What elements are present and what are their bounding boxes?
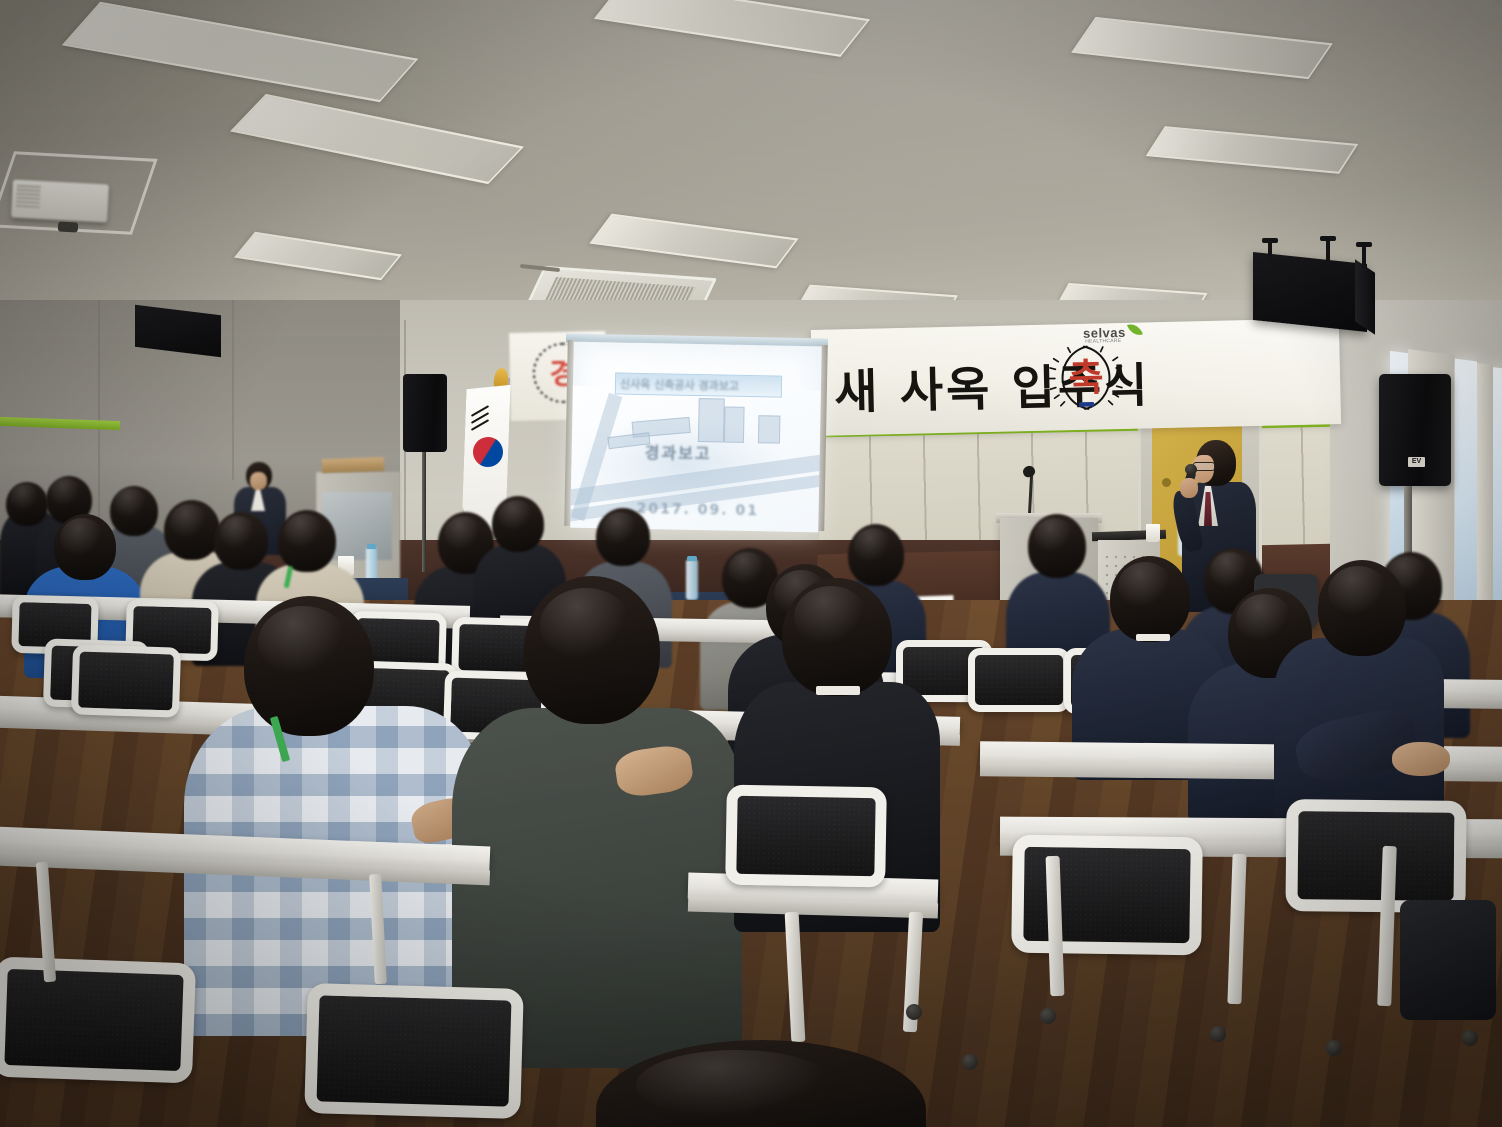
table-caster (1040, 1008, 1056, 1024)
door-knob-icon[interactable] (1162, 478, 1171, 487)
projector-lens-icon (58, 221, 78, 232)
head-highlight (1034, 518, 1074, 554)
chair-mesh (78, 652, 174, 711)
banner-emblem-character: 축 (1068, 355, 1104, 400)
table-caster (962, 1054, 978, 1070)
head-highlight (170, 504, 208, 540)
window-pane (1492, 367, 1502, 629)
table-caster (1326, 1040, 1342, 1056)
ceiling-speaker-face (1355, 259, 1375, 334)
chair-mesh (4, 969, 183, 1071)
bottle-cap (687, 556, 697, 561)
speaker-stand (422, 452, 426, 572)
head-highlight (636, 1050, 836, 1120)
window-mullion (1477, 363, 1493, 627)
paper-cup[interactable] (1146, 524, 1160, 542)
chair-mesh (975, 655, 1063, 705)
head-highlight (60, 518, 104, 558)
cardboard-box (322, 457, 384, 473)
wreath-celebration-emblem-icon: 축 (1047, 339, 1125, 417)
chair-mesh (317, 995, 512, 1106)
projector-vent-icon (16, 185, 41, 208)
projection-screen: 신사옥 신축공사 경과보고 경과보고 2017. 09. 01 (570, 342, 822, 533)
chair[interactable] (304, 983, 524, 1119)
chair-frame (304, 983, 524, 1119)
pa-speaker-right (1379, 374, 1451, 486)
speaker-mount-rod (1268, 240, 1272, 264)
speaker-mount-cap (1320, 236, 1336, 241)
chair-frame (1285, 799, 1466, 913)
head-highlight (284, 514, 324, 550)
head-highlight (1236, 594, 1292, 644)
head-highlight (794, 586, 868, 648)
pa-speaker-left (403, 374, 447, 452)
chair[interactable] (71, 644, 181, 717)
chair-frame (968, 648, 1070, 712)
head-highlight (1210, 552, 1250, 590)
table-caster (1210, 1026, 1226, 1042)
chair[interactable] (1011, 835, 1203, 956)
speaker-mount-rod (1326, 238, 1330, 262)
wall-seam (232, 300, 234, 480)
chair-mesh (1298, 811, 1455, 901)
speaker-mount-cap (1262, 238, 1278, 243)
slide-heading: 경과보고 (644, 439, 711, 464)
slide-title-bar: 신사옥 신축공사 경과보고 (615, 372, 782, 397)
head-highlight (220, 516, 256, 550)
table-caster (1462, 1030, 1478, 1046)
chair-mesh (736, 796, 875, 876)
water-bottle[interactable] (686, 560, 698, 600)
bag (1400, 900, 1496, 1020)
chair[interactable] (725, 785, 887, 888)
chair-frame (725, 785, 887, 888)
microphone-head-icon (1185, 464, 1197, 475)
head-highlight (1328, 566, 1388, 618)
head-highlight (1118, 562, 1172, 610)
ceiling-projector (11, 180, 109, 223)
head-highlight (10, 484, 40, 512)
shirt-collar (816, 686, 860, 695)
chair-frame (71, 644, 181, 717)
slide-building (724, 407, 745, 443)
speaker-mount-cap (1356, 242, 1372, 247)
emblem-ribbon (1079, 402, 1094, 407)
presenter-hand (1180, 478, 1198, 498)
window-pane (1455, 359, 1477, 627)
head-highlight (540, 588, 632, 662)
head-highlight (854, 528, 892, 564)
ceiling-speaker (1253, 252, 1367, 332)
shirt-collar (1136, 634, 1170, 641)
head-highlight (50, 478, 82, 508)
head-highlight (498, 500, 534, 532)
slide-building (698, 398, 725, 442)
table-caster (906, 1004, 922, 1020)
head-highlight (728, 552, 766, 586)
speaker-mount-rod (1362, 244, 1366, 268)
water-bottle[interactable] (366, 548, 377, 582)
chair[interactable] (0, 957, 196, 1084)
chair[interactable] (1285, 799, 1466, 913)
attendee-face (250, 472, 267, 490)
speaker-brand-badge: EV (1408, 457, 1425, 467)
event-banner: 새 사옥 입주식 selvas HEALTHCARE 축 (811, 318, 1341, 436)
slide-title-text: 신사옥 신축공사 경과보고 (620, 376, 779, 395)
selvas-leaf-icon (1127, 321, 1143, 338)
head-highlight (602, 512, 638, 546)
chair-frame (1011, 835, 1203, 956)
chair-frame (0, 957, 196, 1084)
slide-date: 2017. 09. 01 (636, 501, 759, 519)
conference-room-photo: 경 새 사옥 입주식 selvas HEALTHCARE 축 (0, 0, 1502, 1127)
slide-building (758, 415, 781, 443)
slide-road (571, 393, 623, 521)
head-highlight (114, 488, 148, 520)
head-highlight (258, 606, 348, 678)
head-highlight (444, 516, 482, 552)
attendee-hand (1392, 742, 1450, 776)
chair[interactable] (968, 648, 1070, 712)
bottle-cap (367, 544, 376, 549)
